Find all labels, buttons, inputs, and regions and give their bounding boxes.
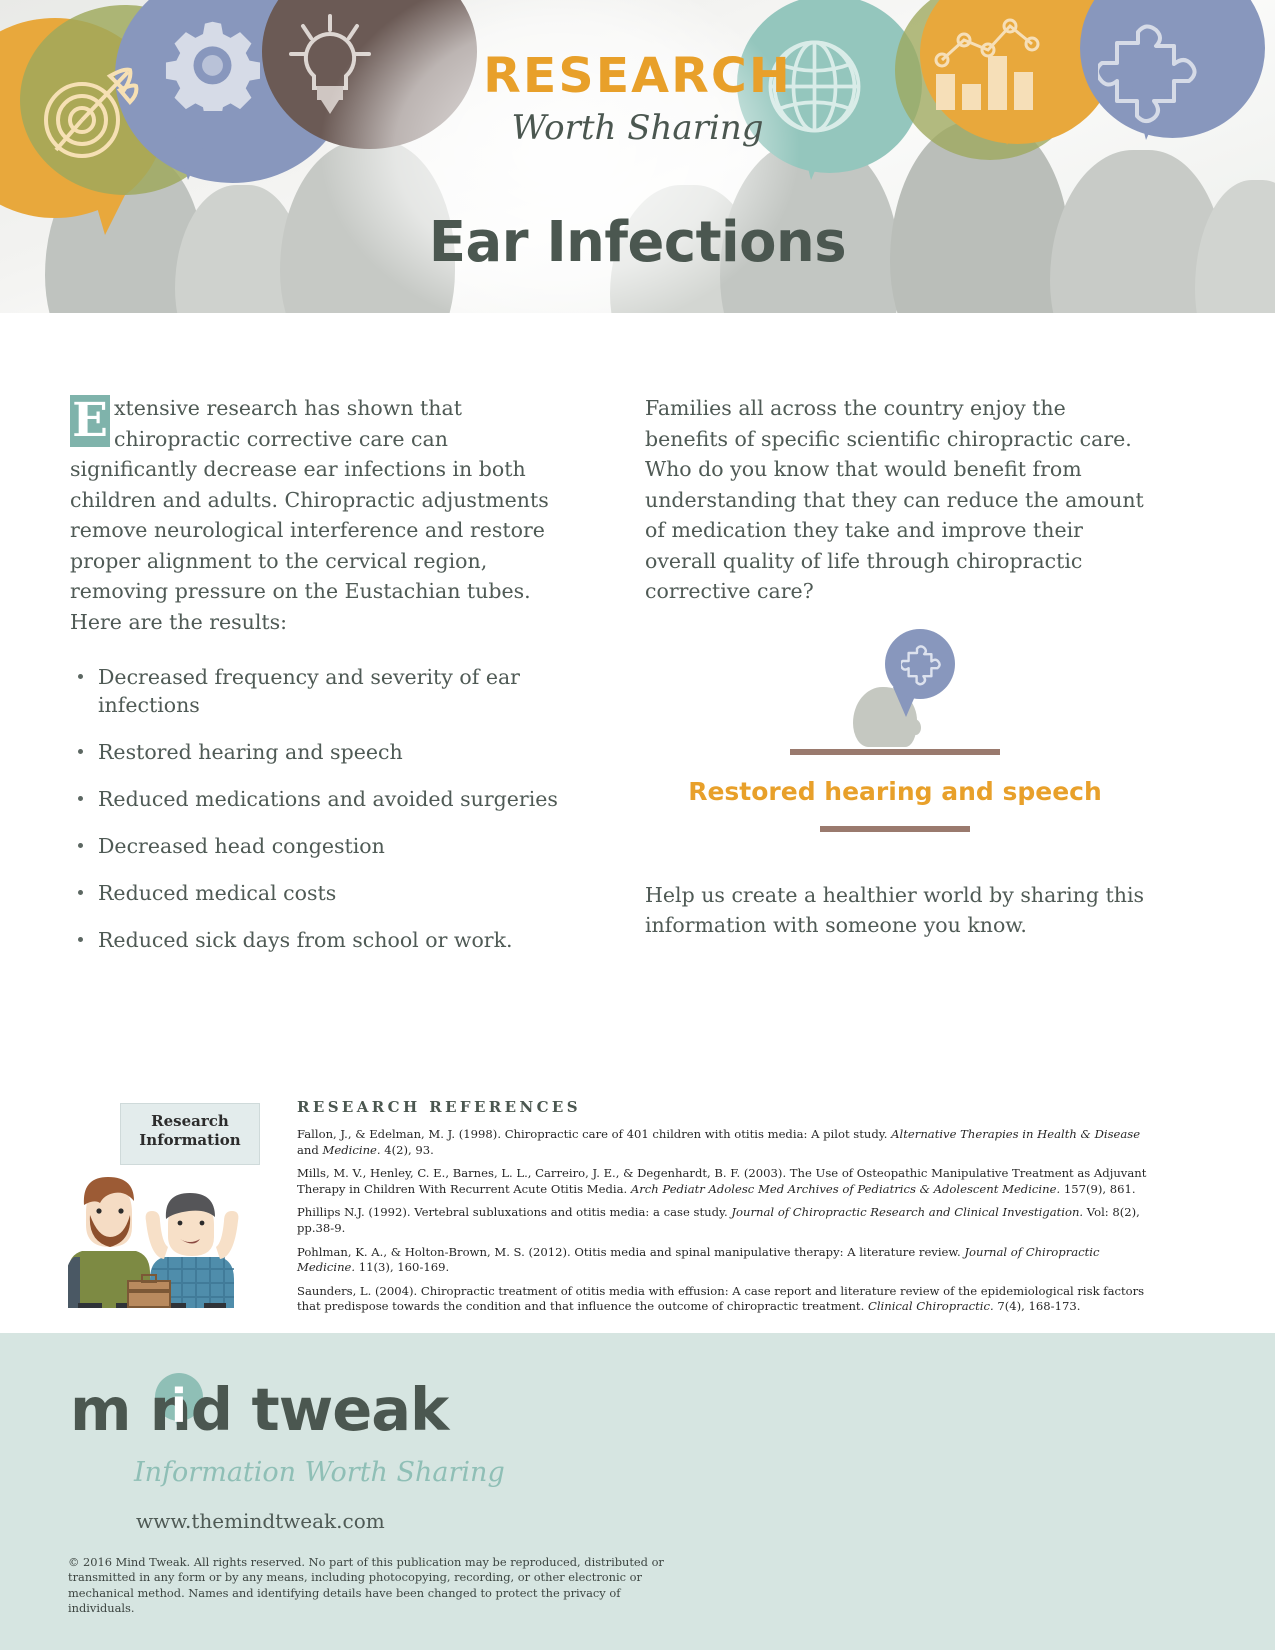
callout-block: Restored hearing and speech [645,629,1145,832]
list-item: Reduced sick days from school or work. [70,926,580,954]
footer-copyright: © 2016 Mind Tweak. All rights reserved. … [68,1555,688,1617]
reference-item: Pohlman, K. A., & Holton-Brown, M. S. (2… [297,1245,1147,1276]
reference-text: 4(2), 93. [381,1143,434,1157]
logo-text-ndtweak: nd tweak [150,1375,449,1444]
divider-top [790,749,1000,755]
header-titles: RESEARCH Worth Sharing Ear Infections [0,0,1275,313]
reference-text: 157(9), 861. [1060,1182,1135,1196]
reference-item: Phillips N.J. (1992). Vertebral subluxat… [297,1205,1147,1236]
footer-website[interactable]: www.themindtweak.com [136,1509,385,1533]
reference-text: 11(3), 160-169. [355,1260,449,1274]
reference-item: Mills, M. V., Henley, C. E., Barnes, L. … [297,1166,1147,1197]
right-paragraph: Families all across the country enjoy th… [645,393,1145,607]
reference-text: Pohlman, K. A., & Holton-Brown, M. S. (2… [297,1245,964,1259]
reference-text: Phillips N.J. (1992). Vertebral subluxat… [297,1205,731,1219]
reference-journal: Medicine. [323,1143,381,1157]
reference-text: 7(4), 168-173. [994,1299,1081,1313]
closing-paragraph: Help us create a healthier world by shar… [645,880,1145,941]
speech-bubble-puzzle-small [885,629,955,699]
callout-illustration [645,629,1145,749]
poster-page: RESEARCH Worth Sharing Ear Infections Ex… [0,0,1275,1650]
reference-journal: Alternative Therapies in Health & Diseas… [891,1127,1140,1141]
reference-text: Fallon, J., & Edelman, M. J. (1998). Chi… [297,1127,891,1141]
list-item: Reduced medical costs [70,879,580,907]
brand-worth-sharing: Worth Sharing [0,108,1275,148]
reference-journal: Clinical Chiropractic. [868,1299,994,1313]
two-people-figure [68,1153,283,1308]
nose-shape [909,719,921,735]
references-heading: RESEARCH REFERENCES [297,1098,1147,1116]
logo-text-m: m [70,1375,130,1444]
list-item: Decreased head congestion [70,832,580,860]
left-column: Extensive research has shown that chirop… [70,393,580,973]
research-information-illustration: Research Information [68,1093,283,1308]
reference-item: Saunders, L. (2004). Chiropractic treatm… [297,1284,1147,1315]
list-item: Decreased frequency and severity of ear … [70,663,580,719]
divider-bottom [820,826,970,832]
logo-letter-i: i [171,1379,187,1433]
poster-header: RESEARCH Worth Sharing Ear Infections [0,0,1275,313]
puzzle-piece-icon [901,643,945,687]
reference-journal: Journal of Chiropractic Research and Cli… [731,1205,1083,1219]
footer-tagline: Information Worth Sharing [134,1457,505,1488]
brand-research: RESEARCH [0,48,1275,104]
logo-wordmark: mind tweak [70,1375,448,1444]
sign-line-2: Information [121,1131,259,1150]
intro-text: xtensive research has shown that chiropr… [70,396,549,634]
list-item: Restored hearing and speech [70,738,580,766]
references-section: RESEARCH REFERENCES Fallon, J., & Edelma… [297,1098,1147,1323]
drop-cap: E [70,395,110,447]
poster-footer: mind tweak i Information Worth Sharing w… [0,1333,1275,1650]
callout-label: Restored hearing and speech [645,777,1145,806]
results-list: Decreased frequency and severity of ear … [70,663,580,954]
list-item: Reduced medications and avoided surgerie… [70,785,580,813]
reference-text: and [297,1143,323,1157]
reference-journal: Arch Pediatr Adolesc Med Archives of Ped… [631,1182,1060,1196]
right-column: Families all across the country enjoy th… [645,393,1145,941]
page-title: Ear Infections [19,210,1256,275]
intro-paragraph: Extensive research has shown that chirop… [70,393,580,637]
sign-line-1: Research [121,1112,259,1131]
reference-item: Fallon, J., & Edelman, M. J. (1998). Chi… [297,1127,1147,1158]
